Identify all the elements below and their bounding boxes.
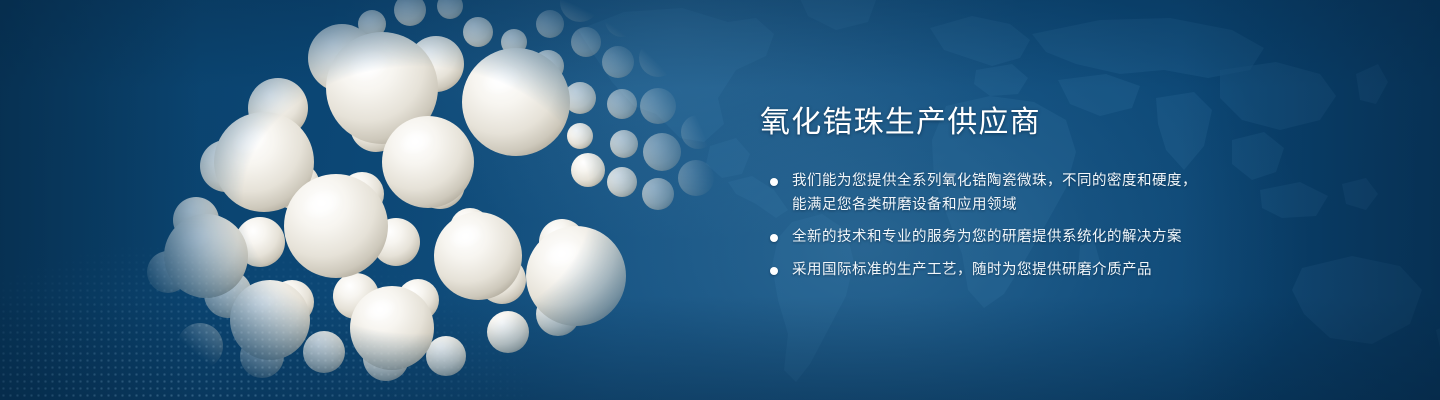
- list-item-line2: 能满足您各类研磨设备和应用领域: [792, 194, 1400, 217]
- bullet-dot-icon: [770, 234, 778, 242]
- list-item: 采用国际标准的生产工艺，随时为您提供研磨介质产品: [760, 259, 1400, 282]
- hero-banner: 氧化锆珠生产供应商 我们能为您提供全系列氧化锆陶瓷微珠，不同的密度和硬度， 能满…: [0, 0, 1440, 400]
- bullet-dot-icon: [770, 267, 778, 275]
- list-item: 我们能为您提供全系列氧化锆陶瓷微珠，不同的密度和硬度， 能满足您各类研磨设备和应…: [760, 170, 1400, 217]
- bullet-dot-icon: [770, 178, 778, 186]
- feature-list: 我们能为您提供全系列氧化锆陶瓷微珠，不同的密度和硬度， 能满足您各类研磨设备和应…: [760, 170, 1400, 282]
- list-item-line1: 全新的技术和专业的服务为您的研磨提供系统化的解决方案: [792, 229, 1182, 245]
- list-item: 全新的技术和专业的服务为您的研磨提供系统化的解决方案: [760, 226, 1400, 249]
- page-title: 氧化锆珠生产供应商: [760, 104, 1400, 142]
- list-item-line1: 采用国际标准的生产工艺，随时为您提供研磨介质产品: [792, 262, 1152, 278]
- banner-copy: 氧化锆珠生产供应商 我们能为您提供全系列氧化锆陶瓷微珠，不同的密度和硬度， 能满…: [760, 104, 1400, 282]
- list-item-line1: 我们能为您提供全系列氧化锆陶瓷微珠，不同的密度和硬度，: [792, 173, 1197, 189]
